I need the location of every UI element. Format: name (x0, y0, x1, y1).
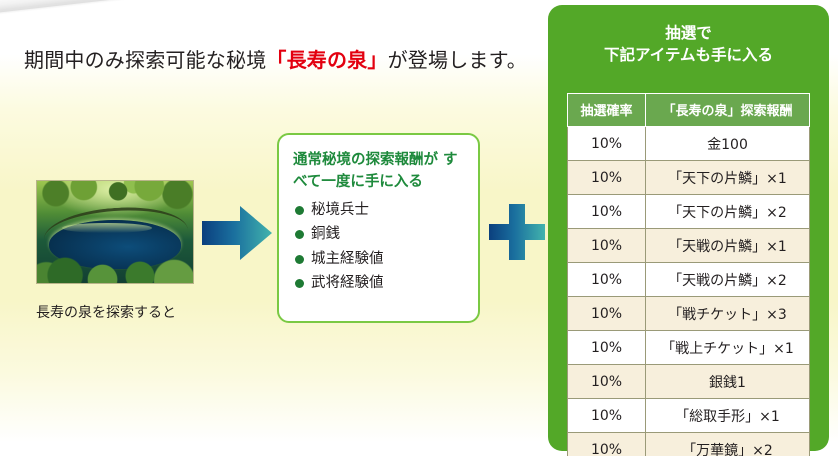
normal-reward-card: 通常秘境の探索報酬が すべて一度に手に入る 秘境兵士 銅銭 城主経験値 武将経験… (277, 133, 480, 323)
table-row: 10% 「総取手形」×1 (568, 399, 810, 433)
table-row: 10% 「天戦の片鱗」×1 (568, 229, 810, 263)
cell-probability: 10% (568, 297, 646, 331)
bullet-icon (295, 230, 304, 239)
corner-ribbon-decoration (0, 0, 136, 24)
cell-probability: 10% (568, 263, 646, 297)
cell-probability: 10% (568, 399, 646, 433)
lottery-panel: 抽選で 下記アイテムも手に入る 抽選確率 「長寿の泉」探索報酬 10% 金100… (548, 5, 829, 451)
page-headline: 期間中のみ探索可能な秘境「長寿の泉」が登場します。 (24, 44, 527, 73)
table-row: 10% 「戦上チケット」×1 (568, 331, 810, 365)
cell-reward: 「万華鏡」×2 (646, 433, 810, 456)
card-title: 通常秘境の探索報酬が すべて一度に手に入る (293, 149, 469, 194)
table-row: 10% 「万華鏡」×2 (568, 433, 810, 456)
cell-reward: 「天戦の片鱗」×1 (646, 229, 810, 263)
list-item: 武将経験値 (295, 276, 478, 291)
list-item-label: 武将経験値 (311, 276, 384, 291)
cell-reward: 「天戦の片鱗」×2 (646, 263, 810, 297)
headline-suffix: が登場します。 (388, 48, 527, 72)
panel-title: 抽選で 下記アイテムも手に入る (548, 5, 829, 67)
column-header-reward: 「長寿の泉」探索報酬 (646, 94, 810, 127)
headline-highlight: 「長寿の泉」 (266, 48, 387, 72)
table-row: 10% 「天下の片鱗」×2 (568, 195, 810, 229)
table-header-row: 抽選確率 「長寿の泉」探索報酬 (568, 94, 810, 127)
cell-reward: 金100 (646, 127, 810, 161)
column-header-probability: 抽選確率 (568, 94, 646, 127)
cell-reward: 「天下の片鱗」×1 (646, 161, 810, 195)
bullet-icon (295, 279, 304, 288)
cell-reward: 銀銭1 (646, 365, 810, 399)
cell-probability: 10% (568, 365, 646, 399)
right-arrow-icon (202, 204, 272, 262)
table-row: 10% 銀銭1 (568, 365, 810, 399)
cell-reward: 「戦チケット」×3 (646, 297, 810, 331)
photo-water-sheen (62, 223, 152, 233)
table-row: 10% 金100 (568, 127, 810, 161)
cell-reward: 「総取手形」×1 (646, 399, 810, 433)
cell-probability: 10% (568, 331, 646, 365)
table-row: 10% 「天戦の片鱗」×2 (568, 263, 810, 297)
cell-reward: 「天下の片鱗」×2 (646, 195, 810, 229)
card-reward-list: 秘境兵士 銅銭 城主経験値 武将経験値 (295, 203, 478, 291)
lottery-reward-table: 抽選確率 「長寿の泉」探索報酬 10% 金100 10% 「天下の片鱗」×1 1… (567, 93, 810, 456)
cell-probability: 10% (568, 229, 646, 263)
headline-prefix: 期間中のみ探索可能な秘境 (24, 48, 266, 72)
list-item-label: 銅銭 (311, 227, 340, 242)
cell-probability: 10% (568, 127, 646, 161)
cell-probability: 10% (568, 161, 646, 195)
table-row: 10% 「天下の片鱗」×1 (568, 161, 810, 195)
bullet-icon (295, 206, 304, 215)
cell-probability: 10% (568, 433, 646, 456)
list-item-label: 城主経験値 (311, 252, 384, 267)
table-row: 10% 「戦チケット」×3 (568, 297, 810, 331)
photo-foreground-foliage (37, 248, 193, 283)
photo-caption: 長寿の泉を探索すると (36, 302, 176, 322)
cell-reward: 「戦上チケット」×1 (646, 331, 810, 365)
list-item: 城主経験値 (295, 252, 478, 267)
list-item: 銅銭 (295, 227, 478, 242)
list-item: 秘境兵士 (295, 203, 478, 218)
list-item-label: 秘境兵士 (311, 203, 369, 218)
plus-icon (489, 204, 545, 260)
spring-photo (36, 180, 194, 284)
bullet-icon (295, 255, 304, 264)
cell-probability: 10% (568, 195, 646, 229)
